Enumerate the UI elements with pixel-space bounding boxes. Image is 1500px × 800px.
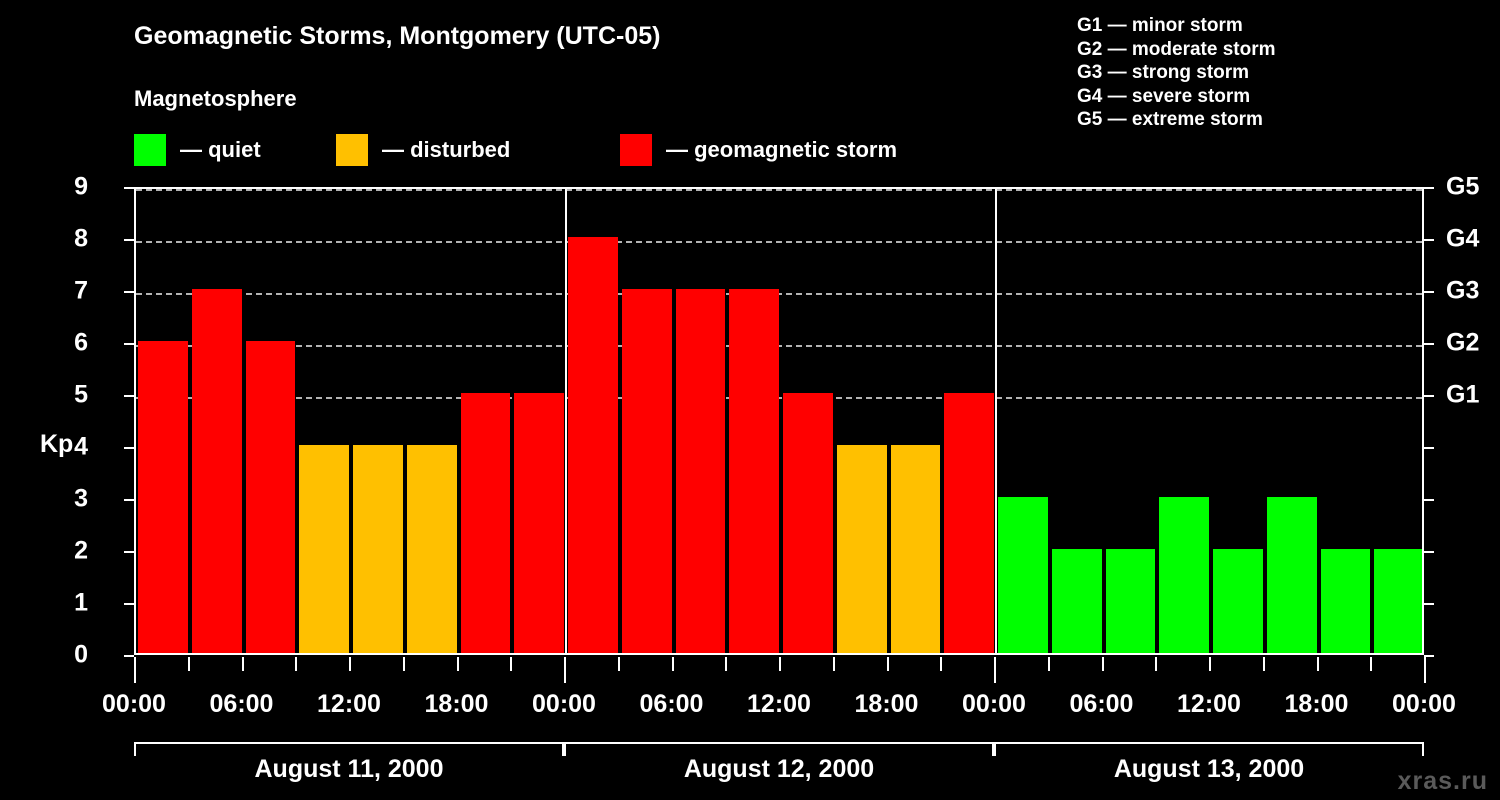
bar xyxy=(299,445,349,653)
g-tick xyxy=(1424,291,1434,293)
x-tick-minor xyxy=(725,657,727,671)
bar xyxy=(353,445,403,653)
subsection-title: Magnetosphere xyxy=(134,86,297,112)
x-tick-minor xyxy=(779,657,781,671)
y-tick xyxy=(124,603,134,605)
g-tick xyxy=(1424,499,1434,501)
y-tick xyxy=(124,499,134,501)
g-tick xyxy=(1424,343,1434,345)
y-tick xyxy=(124,447,134,449)
x-tick-label: 06:00 xyxy=(210,690,274,719)
plot-inner xyxy=(136,189,1422,653)
bar xyxy=(676,289,726,653)
x-tick-minor xyxy=(940,657,942,671)
x-tick-minor xyxy=(1155,657,1157,671)
x-tick-label: 00:00 xyxy=(532,690,596,719)
g-legend-row-1: G1 — minor storm xyxy=(1077,14,1276,38)
bar xyxy=(1213,549,1263,653)
g-tick xyxy=(1424,551,1434,553)
legend-swatch-geomagnetic-storm-icon xyxy=(620,134,652,166)
x-tick-major xyxy=(1424,657,1426,683)
y-tick-label-0: 0 xyxy=(48,641,88,670)
x-tick-label: 12:00 xyxy=(747,690,811,719)
x-tick-minor xyxy=(403,657,405,671)
bar xyxy=(891,445,941,653)
bar xyxy=(1052,549,1102,653)
x-tick-minor xyxy=(1317,657,1319,671)
y-tick xyxy=(124,343,134,345)
x-tick-label: 00:00 xyxy=(102,690,166,719)
bar xyxy=(514,393,564,653)
bar xyxy=(622,289,672,653)
g-tick xyxy=(1424,603,1434,605)
g-tick xyxy=(1424,187,1434,189)
y-tick xyxy=(124,655,134,657)
g-legend-row-4: G4 — severe storm xyxy=(1077,85,1276,109)
x-tick-minor xyxy=(1102,657,1104,671)
x-tick-minor xyxy=(833,657,835,671)
x-tick-minor xyxy=(672,657,674,671)
bar xyxy=(568,237,618,653)
bar xyxy=(837,445,887,653)
chart-page: Geomagnetic Storms, Montgomery (UTC-05) … xyxy=(0,0,1500,800)
y-tick-label-1: 1 xyxy=(48,589,88,618)
x-tick-major xyxy=(134,657,136,683)
bar xyxy=(407,445,457,653)
bar xyxy=(1267,497,1317,653)
x-tick-minor xyxy=(887,657,889,671)
gridline-kp-9 xyxy=(136,189,1422,191)
x-tick-minor xyxy=(1370,657,1372,671)
g-axis-label-G4: G4 xyxy=(1446,225,1479,254)
x-tick-minor xyxy=(1263,657,1265,671)
g-axis-label-G2: G2 xyxy=(1446,329,1479,358)
bar xyxy=(246,341,296,653)
bar xyxy=(998,497,1048,653)
x-tick-minor xyxy=(1048,657,1050,671)
legend-item-geomagnetic-storm: — geomagnetic storm xyxy=(620,133,897,167)
y-tick-label-9: 9 xyxy=(48,173,88,202)
bar xyxy=(729,289,779,653)
x-tick-minor xyxy=(618,657,620,671)
y-tick-label-4: 4 xyxy=(48,433,88,462)
gridline-kp-5 xyxy=(136,397,1422,399)
y-tick xyxy=(124,187,134,189)
x-tick-major xyxy=(994,657,996,683)
day-label: August 13, 2000 xyxy=(1114,755,1304,784)
x-tick-minor xyxy=(188,657,190,671)
g-legend-row-3: G3 — strong storm xyxy=(1077,61,1276,85)
legend-label-quiet: — quiet xyxy=(180,137,261,163)
x-tick-label: 06:00 xyxy=(640,690,704,719)
day-bracket xyxy=(564,742,994,756)
g-tick xyxy=(1424,239,1434,241)
y-tick-label-6: 6 xyxy=(48,329,88,358)
x-tick-label: 18:00 xyxy=(425,690,489,719)
x-tick-label: 12:00 xyxy=(1177,690,1241,719)
bar xyxy=(1159,497,1209,653)
y-tick xyxy=(124,291,134,293)
day-label: August 11, 2000 xyxy=(255,755,444,784)
g-tick xyxy=(1424,395,1434,397)
x-tick-label: 12:00 xyxy=(317,690,381,719)
g-legend-row-5: G5 — extreme storm xyxy=(1077,108,1276,132)
day-label: August 12, 2000 xyxy=(684,755,874,784)
bar xyxy=(461,393,511,653)
legend-item-disturbed: — disturbed xyxy=(336,133,510,167)
g-axis-label-G1: G1 xyxy=(1446,381,1479,410)
x-tick-major xyxy=(564,657,566,683)
bar xyxy=(1106,549,1156,653)
x-tick-label: 18:00 xyxy=(855,690,919,719)
bar xyxy=(192,289,242,653)
gridline-kp-6 xyxy=(136,345,1422,347)
x-tick-label: 06:00 xyxy=(1070,690,1134,719)
gridline-kp-8 xyxy=(136,241,1422,243)
x-tick-minor xyxy=(1209,657,1211,671)
y-tick-label-5: 5 xyxy=(48,381,88,410)
plot-area xyxy=(134,187,1424,655)
x-tick-label: 18:00 xyxy=(1285,690,1349,719)
bar xyxy=(1321,549,1371,653)
y-tick xyxy=(124,395,134,397)
x-tick-minor xyxy=(349,657,351,671)
y-tick-label-7: 7 xyxy=(48,277,88,306)
bar xyxy=(1374,549,1422,653)
page-title: Geomagnetic Storms, Montgomery (UTC-05) xyxy=(134,22,660,51)
day-bracket xyxy=(134,742,564,756)
g-axis-label-G3: G3 xyxy=(1446,277,1479,306)
day-separator xyxy=(565,189,567,653)
legend-item-quiet: — quiet xyxy=(134,133,261,167)
legend-swatch-disturbed-icon xyxy=(336,134,368,166)
day-separator xyxy=(995,189,997,653)
x-tick-minor xyxy=(242,657,244,671)
x-tick-minor xyxy=(295,657,297,671)
bar xyxy=(944,393,994,653)
gridline-kp-7 xyxy=(136,293,1422,295)
x-tick-minor xyxy=(457,657,459,671)
legend-label-disturbed: — disturbed xyxy=(382,137,510,163)
watermark: xras.ru xyxy=(1398,767,1488,796)
g-axis-label-G5: G5 xyxy=(1446,173,1479,202)
g-legend-row-2: G2 — moderate storm xyxy=(1077,38,1276,62)
legend-swatch-quiet-icon xyxy=(134,134,166,166)
x-tick-minor xyxy=(510,657,512,671)
bar xyxy=(138,341,188,653)
day-bracket xyxy=(994,742,1424,756)
legend-label-geomagnetic-storm: — geomagnetic storm xyxy=(666,137,897,163)
y-tick-label-8: 8 xyxy=(48,225,88,254)
g-tick xyxy=(1424,447,1434,449)
g-scale-legend: G1 — minor stormG2 — moderate stormG3 — … xyxy=(1077,14,1276,132)
y-tick xyxy=(124,551,134,553)
bar xyxy=(783,393,833,653)
x-tick-label: 00:00 xyxy=(1392,690,1456,719)
y-tick-label-2: 2 xyxy=(48,537,88,566)
y-tick xyxy=(124,239,134,241)
y-tick-label-3: 3 xyxy=(48,485,88,514)
x-tick-label: 00:00 xyxy=(962,690,1026,719)
